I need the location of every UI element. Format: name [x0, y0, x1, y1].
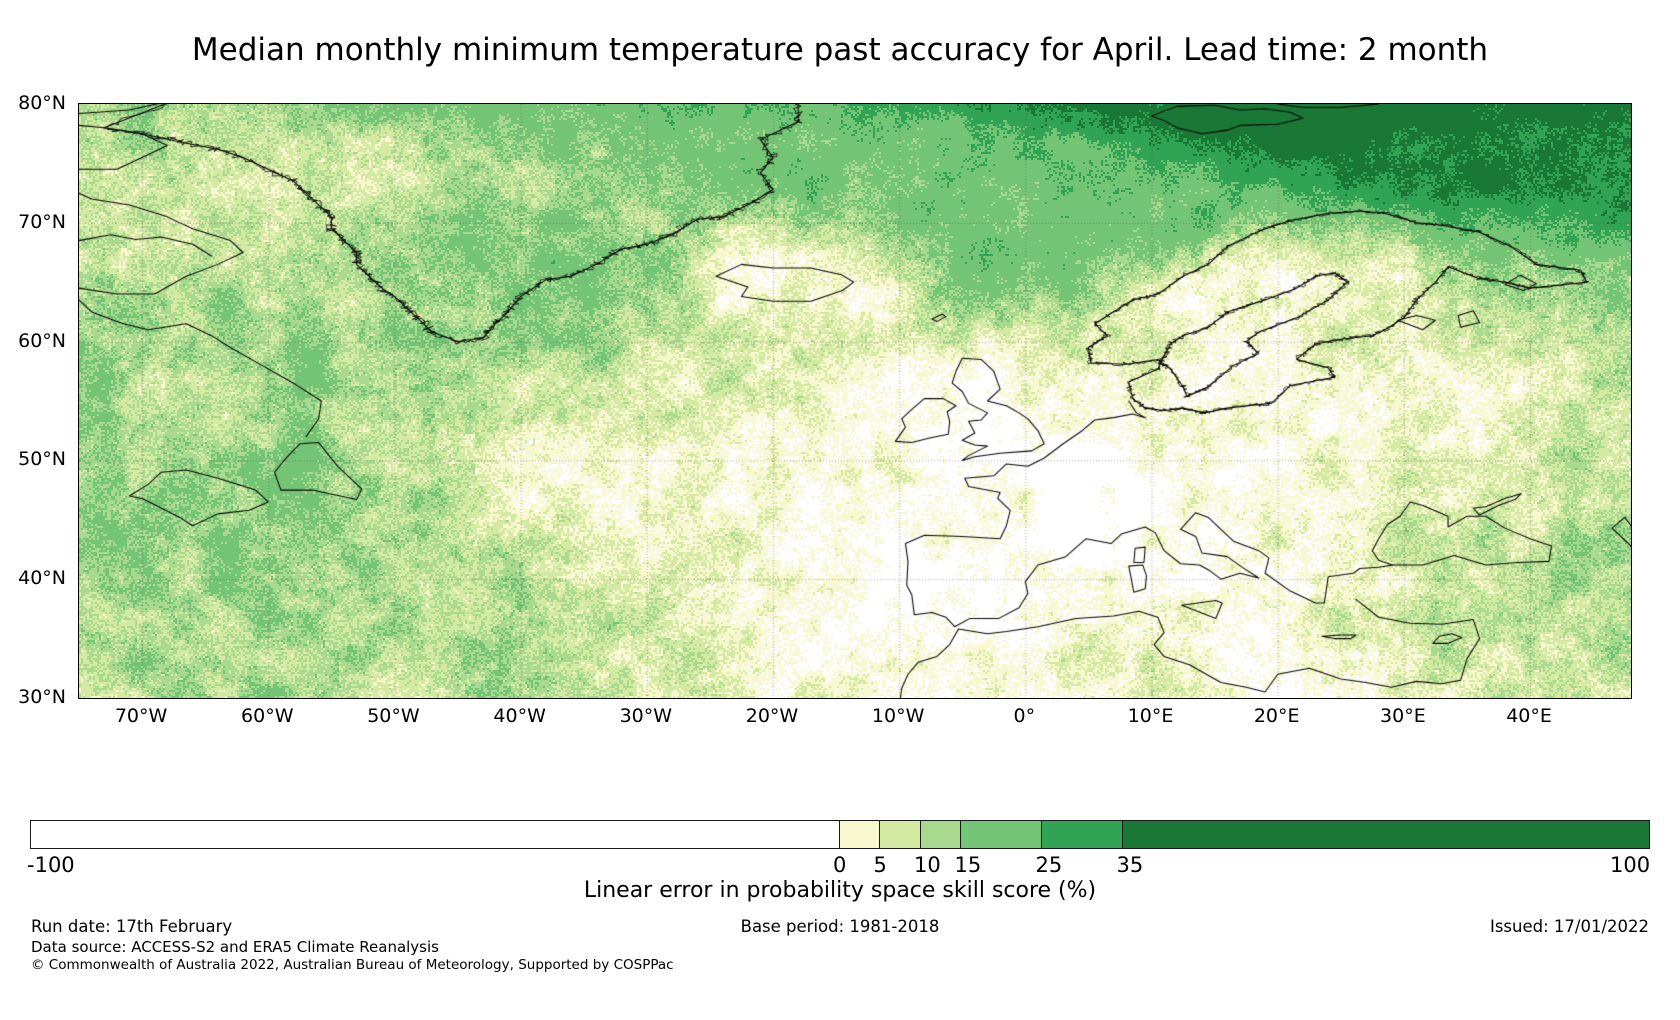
colorbar-tick-label: 25 — [1036, 855, 1063, 876]
colorbar-segment — [840, 821, 880, 848]
colorbar[interactable] — [30, 820, 1650, 849]
colorbar-tick-label: 5 — [874, 855, 887, 876]
y-axis-tick-label: 40°N — [18, 569, 66, 588]
map-plot-area[interactable] — [78, 103, 1632, 699]
x-axis-tick-label: 70°W — [115, 707, 167, 726]
colorbar-segment — [921, 821, 961, 848]
colorbar-tick-label: -100 — [27, 855, 75, 876]
footer-issued-date: Issued: 17/01/2022 — [1490, 917, 1649, 937]
x-axis-tick-label: 50°W — [367, 707, 419, 726]
footer-base-period: Base period: 1981-2018 — [0, 917, 1680, 937]
x-axis-tick-label: 20°E — [1254, 707, 1300, 726]
x-axis-tick-label: 30°E — [1380, 707, 1426, 726]
x-axis-tick-label: 0° — [1014, 707, 1036, 726]
y-axis-tick-label: 30°N — [18, 688, 66, 707]
x-axis-tick-label: 40°W — [493, 707, 545, 726]
y-axis-tick-label: 60°N — [18, 332, 66, 351]
colorbar-segment — [1042, 821, 1123, 848]
climate-skill-score-figure: Median monthly minimum temperature past … — [0, 0, 1680, 1020]
colorbar-segment — [880, 821, 920, 848]
y-axis-tick-label: 70°N — [18, 213, 66, 232]
colorbar-segment — [961, 821, 1042, 848]
colorbar-tick-label: 100 — [1610, 855, 1650, 876]
colorbar-tick-label: 15 — [955, 855, 982, 876]
colorbar-tick-label: 0 — [833, 855, 846, 876]
x-axis-tick-label: 10°W — [872, 707, 924, 726]
y-axis-tick-label: 50°N — [18, 450, 66, 469]
page-title: Median monthly minimum temperature past … — [0, 30, 1680, 70]
colorbar-segment — [31, 821, 840, 848]
coastline-and-gridline-overlay — [79, 104, 1631, 698]
x-axis-tick-label: 60°W — [241, 707, 293, 726]
colorbar-segment — [1123, 821, 1649, 848]
colorbar-axis-label: Linear error in probability space skill … — [0, 878, 1680, 904]
x-axis-tick-label: 10°E — [1128, 707, 1174, 726]
footer-copyright: © Commonwealth of Australia 2022, Austra… — [31, 957, 674, 974]
x-axis-tick-label: 20°W — [746, 707, 798, 726]
y-axis-tick-label: 80°N — [18, 94, 66, 113]
footer-data-source: Data source: ACCESS-S2 and ERA5 Climate … — [31, 938, 439, 957]
x-axis-tick-label: 40°E — [1506, 707, 1552, 726]
x-axis-tick-label: 30°W — [620, 707, 672, 726]
colorbar-tick-label: 35 — [1117, 855, 1144, 876]
colorbar-tick-label: 10 — [914, 855, 941, 876]
